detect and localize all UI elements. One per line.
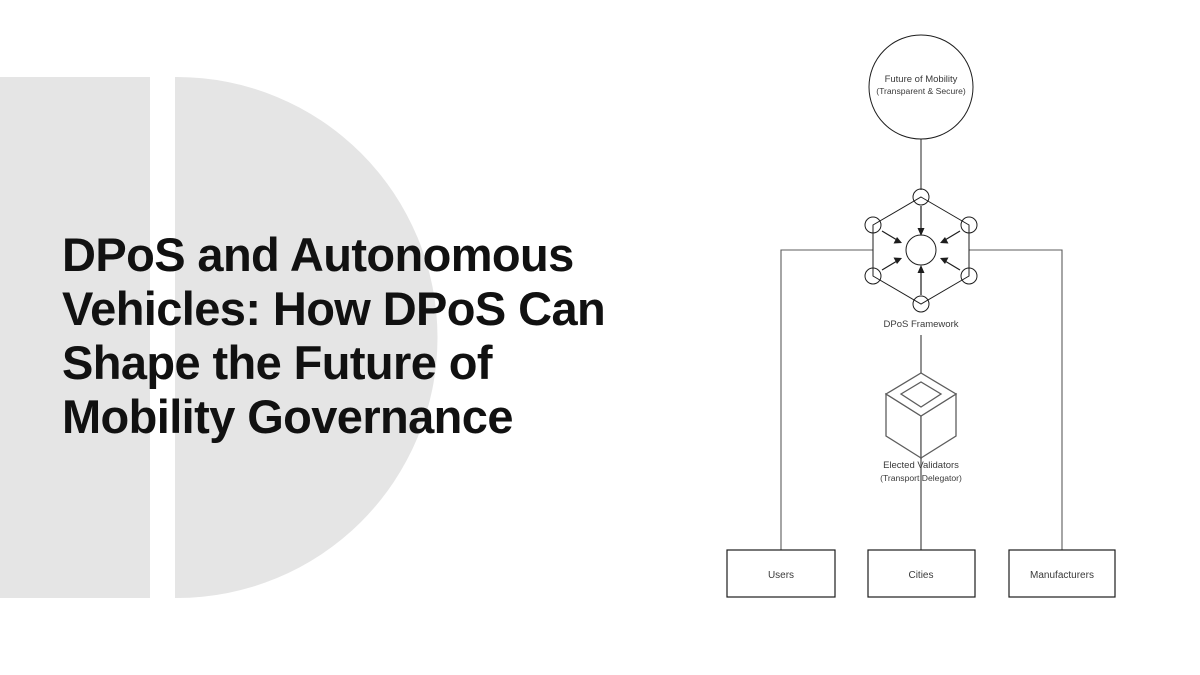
connector-framework-to-manufacturers — [969, 250, 1062, 550]
elected-validators-sublabel: (Transport Delegator) — [880, 473, 962, 483]
elected-validators-label: Elected Validators — [883, 460, 959, 471]
stakeholder-box-users[interactable]: Users — [727, 550, 835, 597]
dpos-framework-label: DPoS Framework — [884, 319, 959, 330]
title-block: DPoS and Autonomous Vehicles: How DPoS C… — [62, 228, 662, 444]
dpos-governance-diagram: Future of Mobility (Transparent & Secure… — [700, 0, 1200, 675]
future-of-mobility-node[interactable]: Future of Mobility (Transparent & Secure… — [869, 35, 973, 139]
manufacturers-box-label: Manufacturers — [1030, 570, 1094, 581]
stakeholder-box-cities[interactable]: Cities — [868, 550, 975, 597]
page-title: DPoS and Autonomous Vehicles: How DPoS C… — [62, 228, 662, 444]
framework-inward-arrows — [882, 206, 960, 295]
stakeholder-box-manufacturers[interactable]: Manufacturers — [1009, 550, 1115, 597]
future-of-mobility-sublabel: (Transparent & Secure) — [876, 86, 966, 96]
users-box-label: Users — [768, 570, 794, 581]
dpos-framework-node[interactable]: DPoS Framework — [865, 189, 977, 330]
connector-framework-to-users — [781, 250, 873, 550]
future-of-mobility-label: Future of Mobility — [885, 74, 958, 85]
cities-box-label: Cities — [908, 570, 933, 581]
framework-center-hub — [906, 235, 936, 265]
elected-validators-node[interactable]: Elected Validators (Transport Delegator) — [880, 373, 962, 483]
